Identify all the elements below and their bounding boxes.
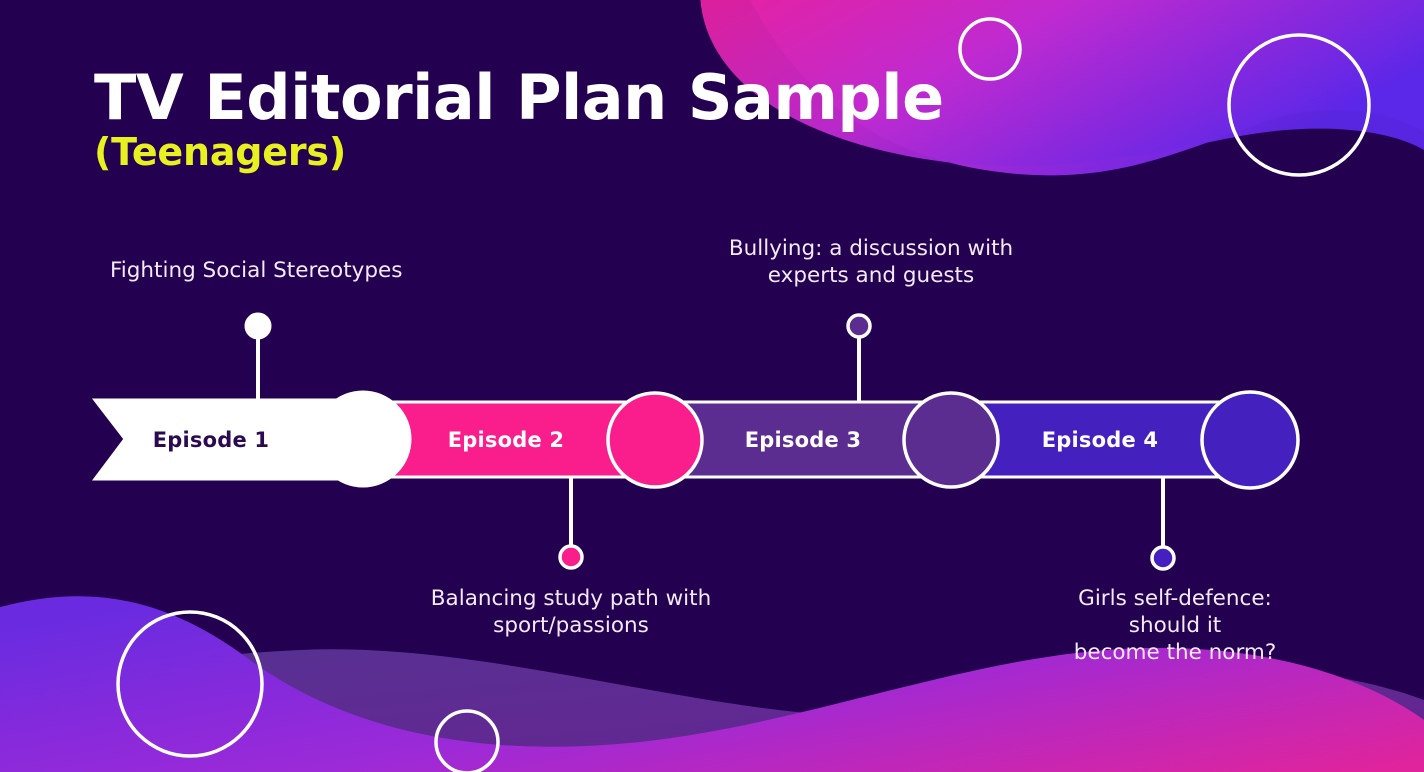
callout-episode-3: Bullying: a discussion with experts and … [729,236,1013,290]
callout-episode-2: Balancing study path with sport/passions [431,586,711,640]
stem-dot-episode-1 [246,314,270,338]
node-circle-2 [608,393,702,487]
stem-dot-episode-4 [1152,547,1174,569]
stem-dot-episode-3 [848,315,870,337]
node-circle-1 [316,392,410,486]
callout-episode-4: Girls self-defence: should it become the… [1051,586,1300,667]
slide-canvas: TV Editorial Plan Sample (Teenagers) Epi… [0,0,1424,772]
node-circle-4 [1202,392,1298,488]
page-title: TV Editorial Plan Sample [94,66,944,130]
header: TV Editorial Plan Sample (Teenagers) [94,66,944,174]
page-subtitle: (Teenagers) [94,132,944,174]
callout-episode-1: Fighting Social Stereotypes [110,258,402,285]
stem-dot-episode-2 [560,546,582,568]
node-circle-3 [904,393,998,487]
